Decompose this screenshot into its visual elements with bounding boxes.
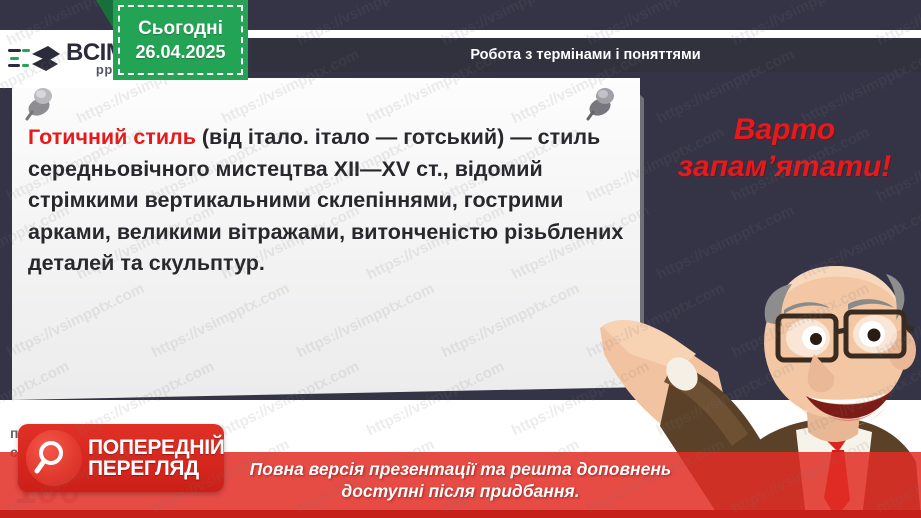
section-title: Робота з термінами і поняттями	[470, 47, 700, 63]
banner-foot-strip	[0, 510, 921, 518]
definition-text: Готичний стиль (від італо. італо — готсь…	[28, 122, 628, 280]
date-badge: Сьогодні 26.04.2025	[113, 0, 248, 80]
pushpin-left-icon	[22, 82, 62, 122]
slide-canvas: п с 100 Готичний стиль (від італо. італо…	[0, 0, 921, 518]
date-badge-date: 26.04.2025	[135, 42, 225, 63]
preview-badge[interactable]: ПОПЕРЕДНІЙ ПЕРЕГЛЯД	[18, 424, 224, 492]
purchase-notice-line-2: доступні після придбання.	[250, 481, 672, 503]
preview-badge-line-2: ПЕРЕГЛЯД	[88, 458, 225, 479]
pushpin-right-icon	[583, 82, 623, 122]
graduation-cap-icon	[8, 42, 60, 76]
slogan-line-2: запам’ятати!	[648, 149, 921, 186]
slogan-line-1: Варто	[648, 112, 921, 149]
preview-badge-line-1: ПОПЕРЕДНІЙ	[88, 437, 225, 458]
magnifier-icon	[26, 430, 82, 486]
watermark-text: https://vsimpptx.com	[0, 280, 2, 361]
purchase-notice-text: Повна версія презентації та решта доповн…	[250, 459, 672, 503]
date-badge-label: Сьогодні	[138, 18, 223, 40]
purchase-notice-line-1: Повна версія презентації та решта доповн…	[250, 459, 672, 481]
section-header-bar: Робота з термінами і поняттями	[250, 38, 921, 72]
term-label: Готичний стиль	[28, 125, 196, 149]
top-white-band	[165, 30, 921, 38]
preview-badge-label: ПОПЕРЕДНІЙ ПЕРЕГЛЯД	[88, 437, 225, 479]
slogan-text: Варто запам’ятати!	[648, 112, 921, 185]
watermark-text: https://vsimpptx.com	[0, 124, 2, 205]
